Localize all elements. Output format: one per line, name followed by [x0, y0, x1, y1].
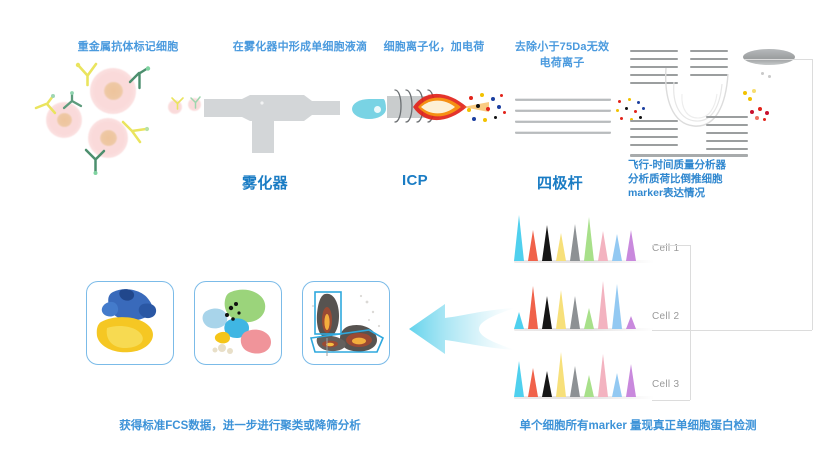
spectrum-cell-2	[514, 273, 654, 331]
spectrum-peak	[570, 296, 580, 329]
detector-icon	[743, 49, 795, 65]
connector-cell3-stub	[652, 400, 690, 401]
tof-caption-line2: 分析质荷比倒推细胞	[628, 172, 788, 186]
antibody-icon	[60, 90, 86, 114]
connector-cell2-stub	[652, 330, 690, 331]
antibody-icon	[82, 148, 110, 176]
spectrum-peak	[612, 284, 622, 329]
ion-cluster-tof-upper	[759, 70, 775, 82]
bottom-caption-left: 获得标准FCS数据，进一步进行聚类或降筛分析	[60, 417, 420, 433]
cell-tag-3: Cell 3	[652, 379, 679, 390]
spectrum-peak	[542, 225, 552, 261]
ion-cloud-post-icp	[466, 92, 508, 126]
spectrum-peak	[584, 375, 594, 397]
connector-mid-vertical	[690, 245, 691, 400]
spectrum-peak	[626, 316, 636, 329]
step-caption-quadrupole-line2: 电荷离子	[490, 56, 634, 71]
cell-tag-2: Cell 2	[652, 311, 679, 322]
tof-caption-line3: marker表达情况	[628, 186, 788, 200]
spectrum-peak	[514, 361, 524, 397]
section-label-icp: ICP	[380, 172, 450, 189]
section-label-quadrupole: 四极杆	[515, 172, 605, 193]
spectrum-peak	[556, 233, 566, 261]
spectrum-peak	[612, 234, 622, 261]
antibody-icon	[127, 66, 155, 92]
spectrum-peak	[528, 368, 538, 397]
cell-spectra-group: Cell 1 Cell 2 Cell 3	[514, 205, 714, 400]
droplet-inner-cell	[374, 106, 381, 113]
tof-analyzer-illustration	[628, 48, 813, 153]
bottom-caption-right: 单个细胞所有marker 量现真正单细胞蛋白检测	[468, 417, 808, 433]
spectrum-peak	[542, 371, 552, 397]
cell-nucleus	[100, 130, 117, 146]
spectrum-peak	[570, 366, 580, 397]
diagram-canvas: 重金属抗体标记细胞 在雾化器中形成单细胞液滴 细胞离子化，加电荷 去除小于75D…	[0, 0, 830, 467]
spectrum-peak	[528, 230, 538, 261]
fcs-plot-3[interactable]	[302, 281, 390, 365]
step-caption-icp: 细胞离子化，加电荷	[358, 40, 510, 55]
nebulizer-illustration	[200, 85, 360, 155]
quadrupole-illustration	[515, 96, 611, 136]
spectrum-peak	[528, 286, 538, 329]
connector-right-vertical	[812, 59, 813, 330]
section-label-nebulizer: 雾化器	[215, 172, 315, 193]
antibody-icon	[33, 94, 63, 120]
spectrum-cell-1	[514, 205, 654, 263]
spectrum-peak	[570, 224, 580, 261]
antibody-icon	[120, 118, 152, 146]
ion-cluster-tof-yellow	[740, 88, 762, 104]
spectrum-peak	[598, 231, 608, 261]
spectrum-peak	[626, 364, 636, 397]
spectrum-peak	[584, 308, 594, 329]
spectrum-peak	[514, 215, 524, 261]
spectrum-peak	[612, 373, 622, 397]
spectrum-cell-3	[514, 341, 654, 399]
spectrum-peak	[598, 354, 608, 397]
spectrum-peak	[584, 217, 594, 261]
spectrum-peak	[556, 290, 566, 329]
labeled-cells-illustration	[28, 60, 178, 175]
spectrum-peak	[598, 281, 608, 329]
antibody-icon	[74, 62, 104, 88]
fcs-plot-1[interactable]	[86, 281, 174, 365]
left-arrow-icon	[405, 298, 517, 360]
connector-top-horizontal	[744, 59, 812, 60]
cell-nucleus	[104, 82, 123, 100]
connector-cell1-stub	[652, 245, 690, 246]
tof-caption-line1: 飞行-时间质量分析器	[628, 158, 788, 172]
spectrum-peak	[542, 296, 552, 329]
connector-cell2-horizontal	[690, 330, 812, 331]
fcs-plot-2[interactable]	[194, 281, 282, 365]
spectrum-peak	[556, 352, 566, 397]
step-caption-quadrupole-line1: 去除小于75Da无效	[490, 40, 634, 55]
ion-cluster-tof-red	[748, 106, 774, 124]
spectrum-peak	[626, 230, 636, 261]
